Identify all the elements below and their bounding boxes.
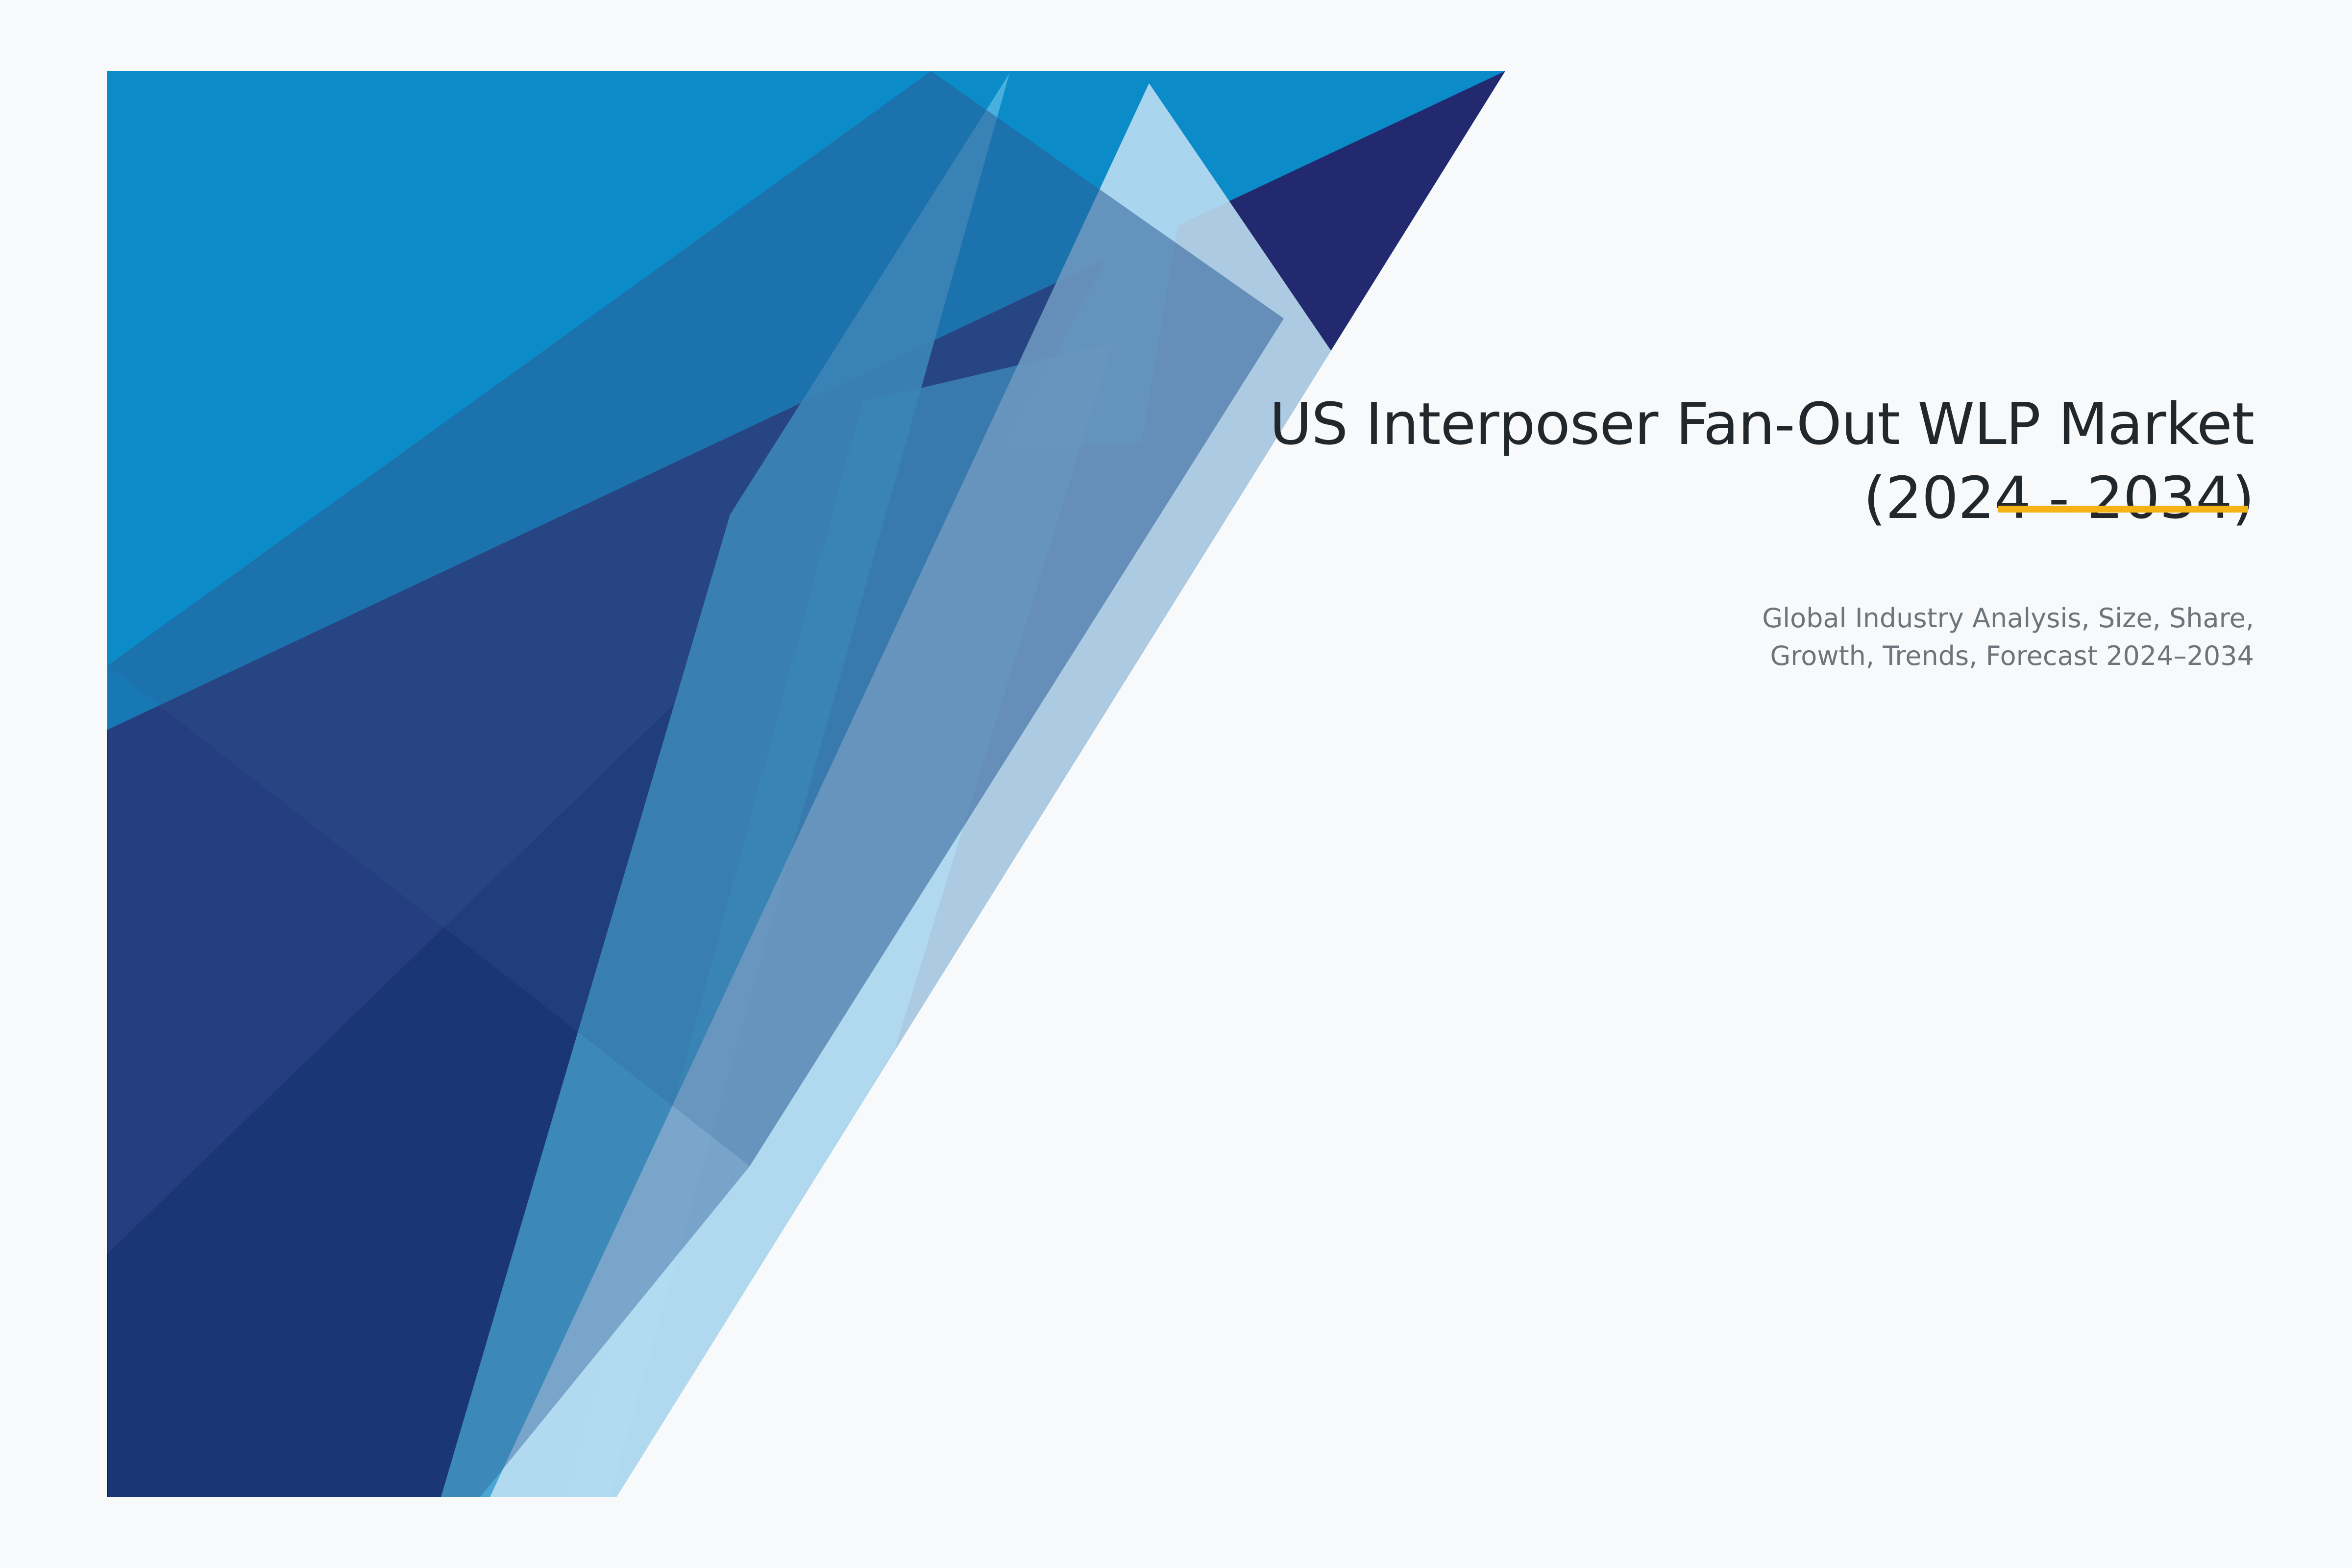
deep-navy-wedge-shape bbox=[107, 666, 713, 1497]
slate-overlay-tail-shape bbox=[108, 665, 750, 1497]
abstract-geometric-artwork bbox=[0, 0, 2352, 1568]
page-title: US Interposer Fan-Out WLP Market (2024 -… bbox=[784, 387, 2254, 535]
title-accent-underline bbox=[1998, 506, 2248, 513]
pale-highlight-sliver-shape bbox=[701, 1068, 1012, 1497]
navy-field-shape bbox=[107, 71, 1505, 1497]
deep-navy-right-leg-shape bbox=[343, 666, 745, 1497]
cyan-base-shape bbox=[107, 71, 1508, 1499]
cover-text-block: US Interposer Fan-Out WLP Market (2024 -… bbox=[784, 387, 2254, 675]
page-subtitle: Global Industry Analysis, Size, Share, G… bbox=[784, 600, 2254, 675]
sky-blue-band-shape bbox=[441, 73, 1009, 1497]
pale-blue-wedge-shape bbox=[490, 83, 1389, 1497]
cover-page: US Interposer Fan-Out WLP Market (2024 -… bbox=[0, 0, 2352, 1568]
title-wrap: US Interposer Fan-Out WLP Market (2024 -… bbox=[784, 387, 2254, 535]
